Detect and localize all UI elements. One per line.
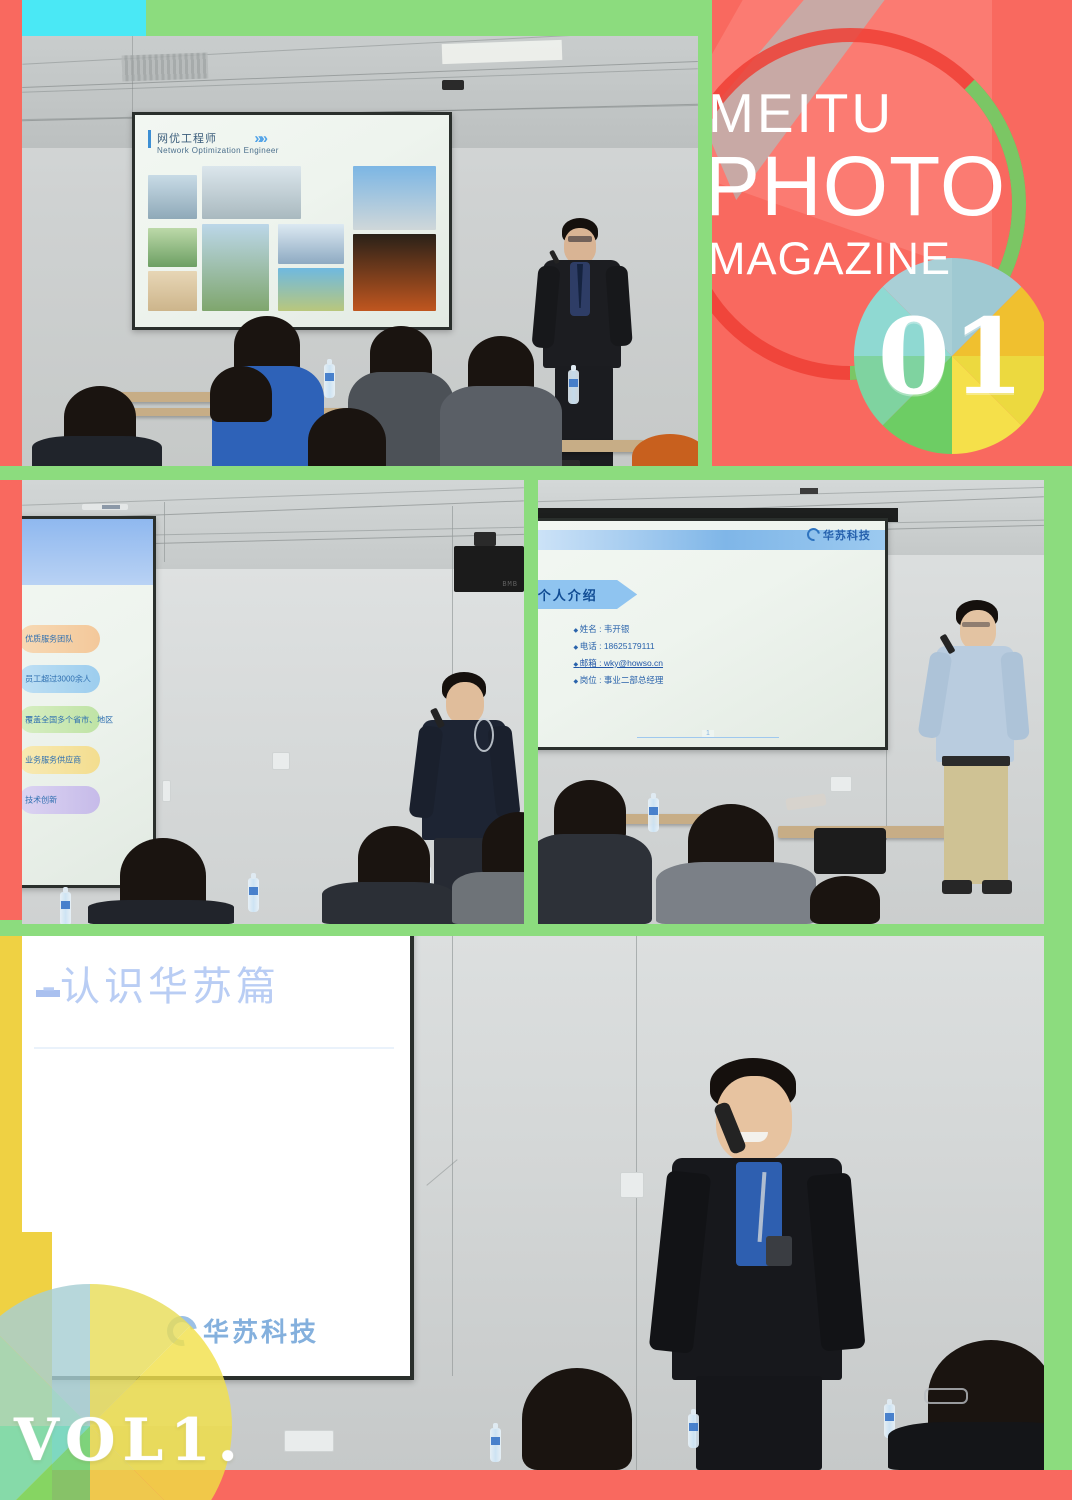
magazine-page: 网优工程师 Network Optimization Engineer »» bbox=[0, 0, 1072, 1500]
photo-mid-left: 优质服务团队 员工超过3000余人 覆盖全国多个省市、地区 业务服务供应商 技术… bbox=[22, 480, 524, 924]
magazine-header: 01 MEITU PHOTO MAGAZINE bbox=[712, 0, 1044, 466]
magazine-subtitle: MAGAZINE bbox=[712, 236, 1040, 281]
audience-head bbox=[358, 826, 430, 890]
audience-body bbox=[888, 1422, 1044, 1470]
audience-body bbox=[322, 882, 454, 924]
right-coral-bar bbox=[1044, 0, 1072, 480]
projector-screen-mid-left: 优质服务团队 员工超过3000余人 覆盖全国多个省市、地区 业务服务供应商 技术… bbox=[22, 516, 156, 888]
belt bbox=[942, 756, 1010, 766]
slide-photo-collage bbox=[148, 166, 437, 314]
water-bottle bbox=[248, 878, 259, 912]
water-bottle bbox=[688, 1414, 699, 1448]
audience-head bbox=[210, 366, 272, 422]
lanyard bbox=[474, 718, 494, 752]
water-bottle bbox=[324, 364, 335, 398]
header-divider bbox=[698, 0, 712, 472]
audience-body bbox=[440, 386, 562, 466]
photo-top: 网优工程师 Network Optimization Engineer »» bbox=[22, 36, 698, 466]
light-switch bbox=[272, 752, 290, 770]
audience-body bbox=[452, 872, 524, 924]
huasu-logo: 华苏科技 bbox=[807, 527, 871, 543]
audience-body bbox=[88, 900, 234, 924]
water-bottle bbox=[60, 892, 71, 924]
audience-head bbox=[810, 876, 880, 924]
slide-section-title: -认识华苏篇 bbox=[42, 954, 280, 1012]
magazine-title: PHOTO bbox=[712, 144, 1036, 228]
water-bottle bbox=[568, 370, 579, 404]
badge bbox=[766, 1236, 792, 1266]
brand-name: MEITU bbox=[712, 86, 1040, 141]
wall-outlet bbox=[830, 776, 852, 792]
audience-body bbox=[32, 436, 162, 466]
audience-body bbox=[538, 834, 652, 924]
laptop-bag bbox=[814, 828, 886, 874]
volume-label: VOL1. bbox=[14, 1406, 245, 1474]
audience-body bbox=[656, 862, 816, 924]
slide-heading-badge: 个人介绍 bbox=[538, 580, 637, 609]
eyeglasses-icon bbox=[924, 1388, 968, 1404]
slide-bullet-list: 姓名 : 韦开银 电话 : 18625179111 邮箱 : wky@howso… bbox=[573, 623, 663, 691]
huasu-logo-icon bbox=[804, 526, 822, 544]
right-green-bar bbox=[1044, 480, 1072, 1500]
light-switch bbox=[620, 1172, 644, 1198]
issue-number: 01 bbox=[854, 258, 1044, 454]
audience-head bbox=[554, 780, 626, 842]
column-divider bbox=[524, 478, 538, 924]
water-bottle bbox=[648, 798, 659, 832]
water-bottle bbox=[490, 1428, 501, 1462]
wall-outlet bbox=[284, 1430, 334, 1452]
audience-head bbox=[308, 408, 386, 466]
issue-badge: 01 bbox=[854, 258, 1044, 454]
projector-screen-top: 网优工程师 Network Optimization Engineer »» bbox=[132, 112, 452, 330]
projector-screen-mid-right: 华苏科技 个人介绍 姓名 : 韦开银 电话 : 18625179111 邮箱 :… bbox=[538, 518, 888, 750]
ceiling-speaker bbox=[454, 546, 524, 592]
photo-mid-right: 华苏科技 个人介绍 姓名 : 韦开银 电话 : 18625179111 邮箱 :… bbox=[538, 480, 1044, 924]
audience-head bbox=[522, 1368, 632, 1470]
top-green-bar bbox=[146, 0, 710, 36]
